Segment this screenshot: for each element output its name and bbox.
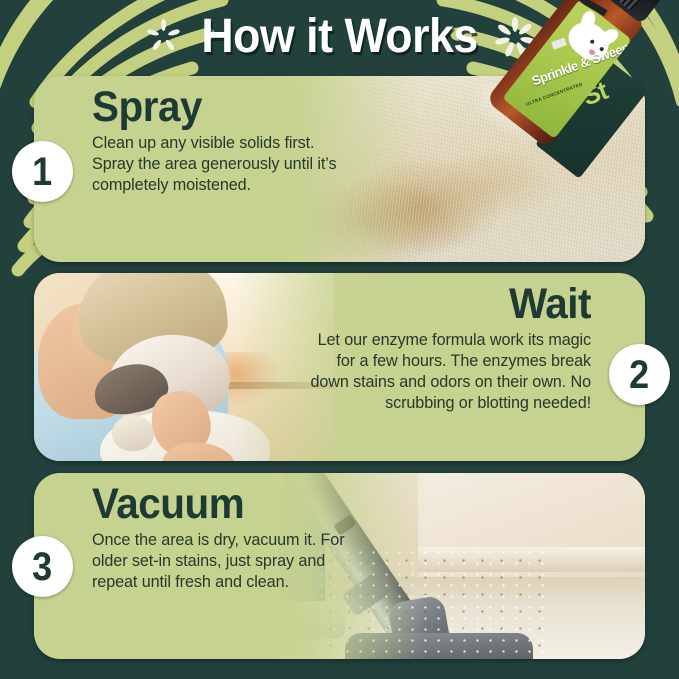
step-body: Let our enzyme formula work its magic fo… [305,330,591,414]
step-text-block: Vacuum Once the area is dry, vacuum it. … [34,473,354,659]
step-number: 1 [32,152,52,192]
step-body: Once the area is dry, vacuum it. For old… [92,530,354,593]
step-title: Wait [322,283,591,327]
page-title: How it Works [201,13,477,61]
step-number: 3 [32,547,52,587]
step-body: Clean up any visible solids first. Spray… [92,133,354,196]
step-text-block: Wait Let our enzyme formula work its mag… [305,273,645,461]
step-number-badge: 1 [12,141,73,202]
usa-badge [551,37,567,49]
sparkle-burst-icon [147,17,181,57]
step-text-block: Spray Clean up any visible solids first.… [34,76,354,262]
step-title: Vacuum [92,483,338,527]
step-number: 2 [629,355,649,395]
how-it-works-infographic: How it Works Spray Clean up any visible … [0,0,679,679]
step-panel-vacuum: Vacuum Once the area is dry, vacuum it. … [34,473,645,659]
step-number-badge: 3 [12,536,73,597]
step-panel-wait: Wait Let our enzyme formula work its mag… [34,273,645,461]
step-number-badge: 2 [609,344,670,405]
step-title: Spray [92,86,338,130]
